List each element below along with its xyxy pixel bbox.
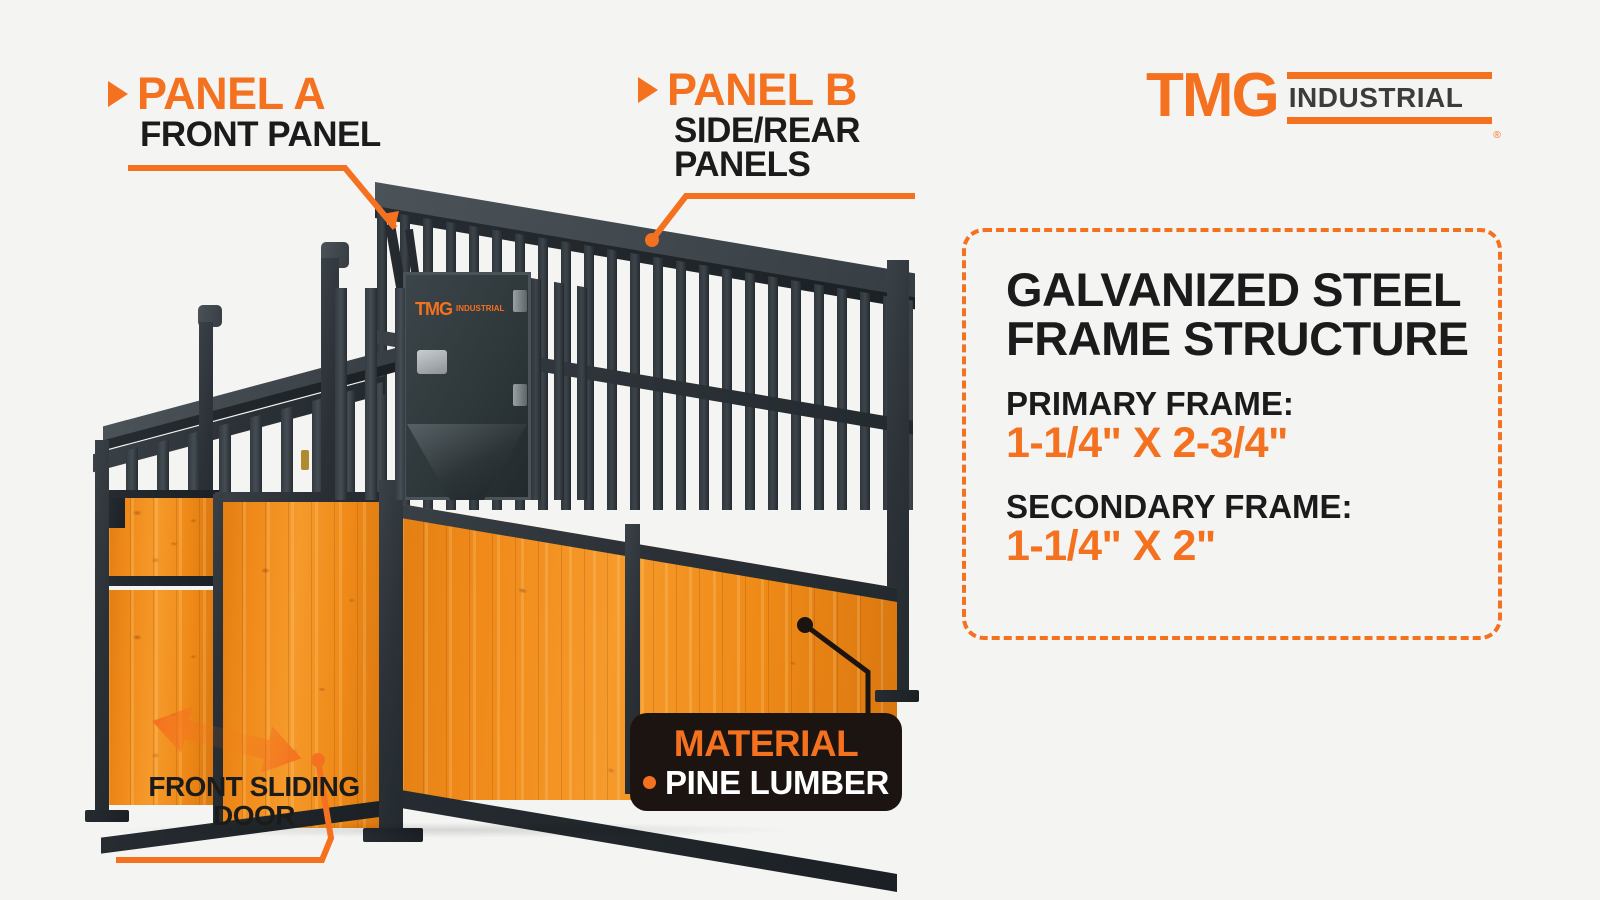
secondary-frame-label: SECONDARY FRAME: <box>1006 489 1498 525</box>
sliding-door-label-line1: FRONT SLIDING <box>104 772 404 801</box>
sliding-door-latch <box>301 450 309 470</box>
front-panel-latch-plate <box>107 498 125 528</box>
secondary-frame-value: 1-1/4" X 2" <box>1006 524 1498 569</box>
feeder-door-hinge-top <box>513 290 527 312</box>
front-panel-bars-feeder-right-fill <box>531 278 587 500</box>
logo-industrial-block: INDUSTRIAL ® <box>1287 60 1492 132</box>
triangle-bullet-icon <box>108 81 128 107</box>
feeder-assembly: TMG INDUSTRIAL <box>403 272 531 500</box>
feeder-brand-word: INDUSTRIAL <box>456 305 504 313</box>
front-panel-step-frame-top <box>103 490 219 498</box>
spec-box-galvanized-steel: GALVANIZED STEEL FRAME STRUCTURE PRIMARY… <box>962 228 1502 640</box>
front-panel-bars-feeder-right <box>531 278 587 500</box>
logo-word-industrial: INDUSTRIAL <box>1287 79 1492 117</box>
panel-b-title: PANEL B <box>667 64 857 115</box>
registered-trademark-icon: ® <box>1493 130 1500 141</box>
bullet-dot-icon <box>643 776 656 789</box>
callout-panel-a: PANEL A FRONT PANEL <box>108 72 381 152</box>
spec-heading-line1: GALVANIZED STEEL <box>1006 266 1498 315</box>
infographic-canvas: TMG INDUSTRIAL <box>0 0 1600 900</box>
panel-a-title-row: PANEL A <box>108 72 381 116</box>
logo-bar-top <box>1287 72 1492 79</box>
material-badge-title: MATERIAL <box>674 725 858 762</box>
feeder-door-brand: TMG INDUSTRIAL <box>415 300 504 318</box>
panel-b-title-row: PANEL B <box>638 68 860 112</box>
panel-a-title: PANEL A <box>137 68 325 119</box>
feeder-door-latch <box>417 350 447 374</box>
spec-heading-line2: FRAME STRUCTURE <box>1006 315 1498 364</box>
material-badge-item: PINE LUMBER <box>665 766 889 799</box>
material-badge: MATERIAL PINE LUMBER <box>630 713 902 811</box>
callout-panel-b: PANEL B SIDE/REAR PANELS <box>638 68 860 183</box>
feeder-brand-mark: TMG <box>415 300 452 318</box>
material-badge-item-row: PINE LUMBER <box>643 766 889 799</box>
feeder-door-hinge-bottom <box>513 384 527 406</box>
front-panel-bars-right <box>335 288 405 500</box>
primary-frame-value: 1-1/4" X 2-3/4" <box>1006 421 1498 466</box>
panel-a-subtitle: FRONT PANEL <box>140 118 381 152</box>
sliding-door-label-line2: DOOR <box>104 801 404 830</box>
logo-mark-tmg: TMG <box>1146 60 1278 132</box>
rear-post-foot <box>875 690 919 702</box>
triangle-bullet-icon <box>638 77 658 103</box>
tmg-industrial-logo: TMG INDUSTRIAL ® <box>1146 60 1492 132</box>
primary-frame-label: PRIMARY FRAME: <box>1006 386 1498 422</box>
callout-front-sliding-door: FRONT SLIDING DOOR <box>104 772 404 830</box>
logo-bar-bottom <box>1287 117 1492 124</box>
panel-b-subtitle-line2: PANELS <box>674 148 860 182</box>
front-left-post <box>95 440 109 818</box>
front-panel-step-frame-mid <box>103 576 219 586</box>
panel-b-subtitle-line1: SIDE/REAR <box>674 114 860 148</box>
front-panel-bars-right-fill <box>335 288 405 500</box>
